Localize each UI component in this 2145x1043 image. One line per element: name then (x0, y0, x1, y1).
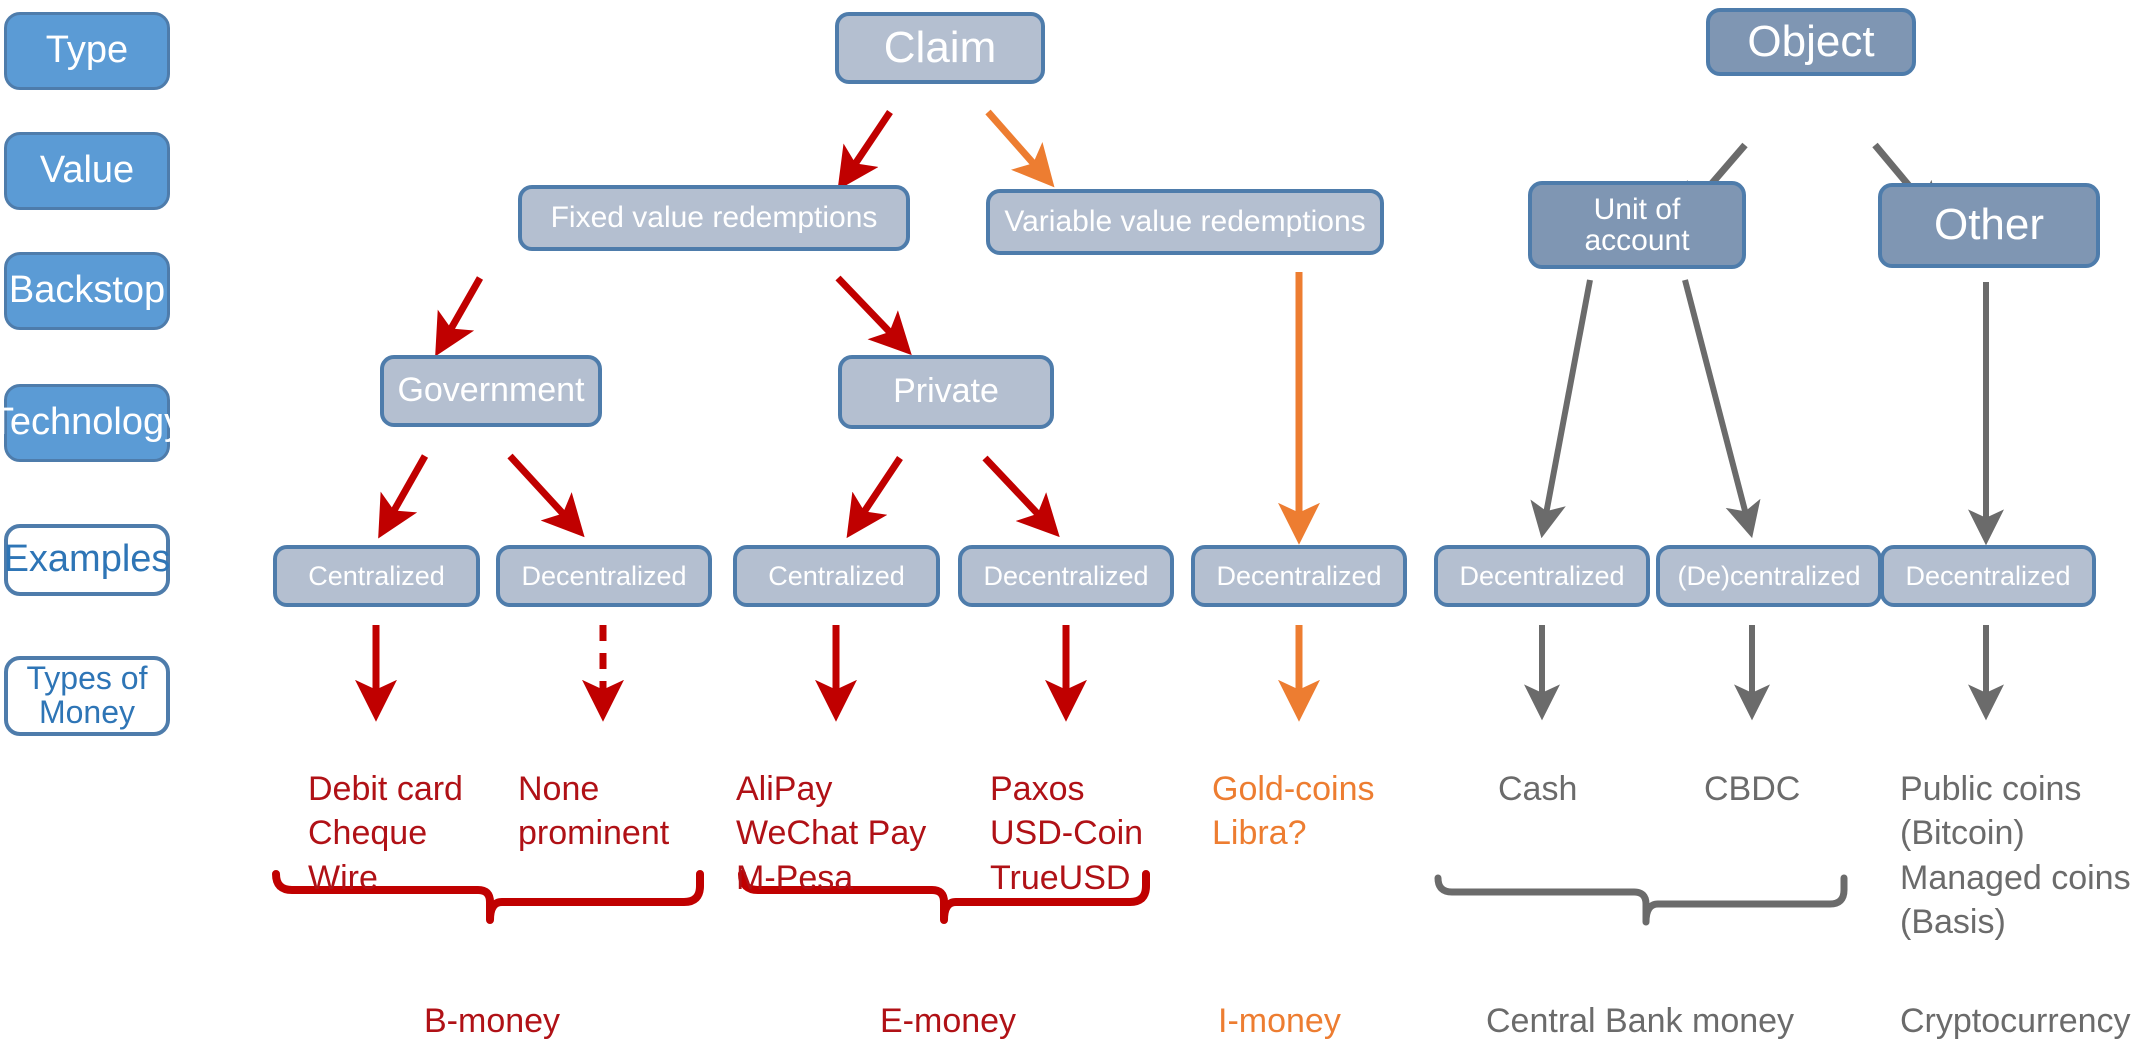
node-variable-value-redemptions-label: Variable value redemptions (1004, 206, 1365, 238)
row-label-types-of-money-text: Types of Money (27, 662, 148, 729)
arrow-unit-to-de-centralized (1685, 280, 1750, 530)
brace-central-bank-money (1438, 878, 1844, 922)
examples-public-coins-text: Public coins (Bitcoin) Managed coins (Ba… (1900, 770, 2131, 941)
row-label-examples[interactable]: Examples (4, 524, 170, 596)
arrow-fixed-to-private (838, 278, 905, 348)
examples-alipay: AliPay WeChat Pay M-Pesa (736, 723, 926, 900)
node-unit-of-account[interactable]: Unit of account (1528, 181, 1746, 269)
node-variable-value-redemptions[interactable]: Variable value redemptions (986, 189, 1384, 255)
node-claim[interactable]: Claim (835, 12, 1045, 84)
node-tech-priv-centralized[interactable]: Centralized (733, 545, 940, 607)
node-other-label: Other (1934, 202, 2044, 248)
node-tech-gov-centralized-label: Centralized (308, 562, 445, 590)
row-label-backstop-text: Backstop (9, 271, 165, 311)
node-unit-of-account-label: Unit of account (1584, 194, 1689, 257)
examples-goldcoins-text: Gold-coins Libra? (1212, 770, 1375, 852)
node-tech-uoa-decentralized-label: Decentralized (1459, 562, 1624, 590)
node-tech-other-decentralized-label: Decentralized (1905, 562, 2070, 590)
money-type-e-money-text: E-money (880, 1002, 1016, 1040)
row-label-value-text: Value (40, 151, 134, 191)
examples-none-text: None prominent (518, 770, 669, 852)
node-fixed-value-redemptions[interactable]: Fixed value redemptions (518, 185, 910, 251)
arrow-fixed-to-government (440, 278, 480, 348)
examples-cash-text: Cash (1498, 770, 1577, 808)
money-type-cryptocurrency-text: Cryptocurrency (1900, 1002, 2131, 1040)
money-type-e-money: E-money (880, 955, 1016, 1043)
node-object-label: Object (1747, 19, 1874, 65)
node-tech-priv-centralized-label: Centralized (768, 562, 905, 590)
examples-debit: Debit card Cheque Wire (308, 723, 463, 900)
node-tech-gov-decentralized-label: Decentralized (521, 562, 686, 590)
node-tech-priv-decentralized[interactable]: Decentralized (958, 545, 1174, 607)
node-tech-de-centralized-label: (De)centralized (1677, 562, 1860, 590)
arrow-government-to-decentralized (510, 456, 578, 530)
row-label-type[interactable]: Type (4, 12, 170, 90)
money-type-b-money-text: B-money (424, 1002, 560, 1040)
examples-none: None prominent (518, 723, 669, 856)
money-type-central-bank-money-text: Central Bank money (1486, 1002, 1794, 1040)
money-type-central-bank-money: Central Bank money (1486, 955, 1794, 1043)
node-tech-variable-decentralized-label: Decentralized (1216, 562, 1381, 590)
node-private-label: Private (893, 374, 999, 410)
money-type-i-money-text: I-money (1218, 1002, 1341, 1040)
node-tech-other-decentralized[interactable]: Decentralized (1880, 545, 2096, 607)
node-object[interactable]: Object (1706, 8, 1916, 76)
arrow-government-to-centralized (383, 456, 425, 530)
row-label-type-text: Type (46, 31, 128, 71)
node-private[interactable]: Private (838, 355, 1054, 429)
node-government-label: Government (397, 373, 584, 409)
node-tech-de-centralized[interactable]: (De)centralized (1656, 545, 1882, 607)
node-tech-gov-decentralized[interactable]: Decentralized (496, 545, 712, 607)
examples-alipay-text: AliPay WeChat Pay M-Pesa (736, 770, 926, 896)
node-fixed-value-redemptions-label: Fixed value redemptions (551, 202, 878, 234)
arrow-unit-to-decentralized (1543, 280, 1590, 530)
arrow-claim-to-variable (988, 112, 1048, 180)
examples-paxos: Paxos USD-Coin TrueUSD (990, 723, 1143, 900)
row-label-backstop[interactable]: Backstop (4, 252, 170, 330)
row-label-types-of-money[interactable]: Types of Money (4, 656, 170, 736)
diagram-canvas: Type Value Backstop Technology Examples … (0, 0, 2145, 1033)
examples-goldcoins: Gold-coins Libra? (1212, 723, 1375, 856)
arrow-private-to-centralized (852, 458, 900, 530)
arrow-private-to-decentralized (985, 458, 1053, 530)
node-tech-variable-decentralized[interactable]: Decentralized (1191, 545, 1407, 607)
node-government[interactable]: Government (380, 355, 602, 427)
row-label-value[interactable]: Value (4, 132, 170, 210)
examples-public-coins: Public coins (Bitcoin) Managed coins (Ba… (1900, 723, 2131, 944)
examples-cbdc-text: CBDC (1704, 770, 1800, 808)
node-tech-priv-decentralized-label: Decentralized (983, 562, 1148, 590)
node-tech-uoa-decentralized[interactable]: Decentralized (1434, 545, 1650, 607)
node-other[interactable]: Other (1878, 183, 2100, 268)
money-type-i-money: I-money (1218, 955, 1341, 1043)
examples-debit-text: Debit card Cheque Wire (308, 770, 463, 896)
money-type-b-money: B-money (424, 955, 560, 1043)
row-label-examples-text: Examples (4, 540, 171, 580)
node-tech-gov-centralized[interactable]: Centralized (273, 545, 480, 607)
examples-cash: Cash (1498, 723, 1577, 811)
node-claim-label: Claim (884, 25, 996, 71)
arrow-claim-to-fixed (843, 112, 890, 182)
money-type-cryptocurrency: Cryptocurrency (1900, 955, 2131, 1043)
row-label-technology-text: Technology (0, 403, 183, 443)
examples-cbdc: CBDC (1704, 723, 1800, 811)
examples-paxos-text: Paxos USD-Coin TrueUSD (990, 770, 1143, 896)
row-label-technology[interactable]: Technology (4, 384, 170, 462)
